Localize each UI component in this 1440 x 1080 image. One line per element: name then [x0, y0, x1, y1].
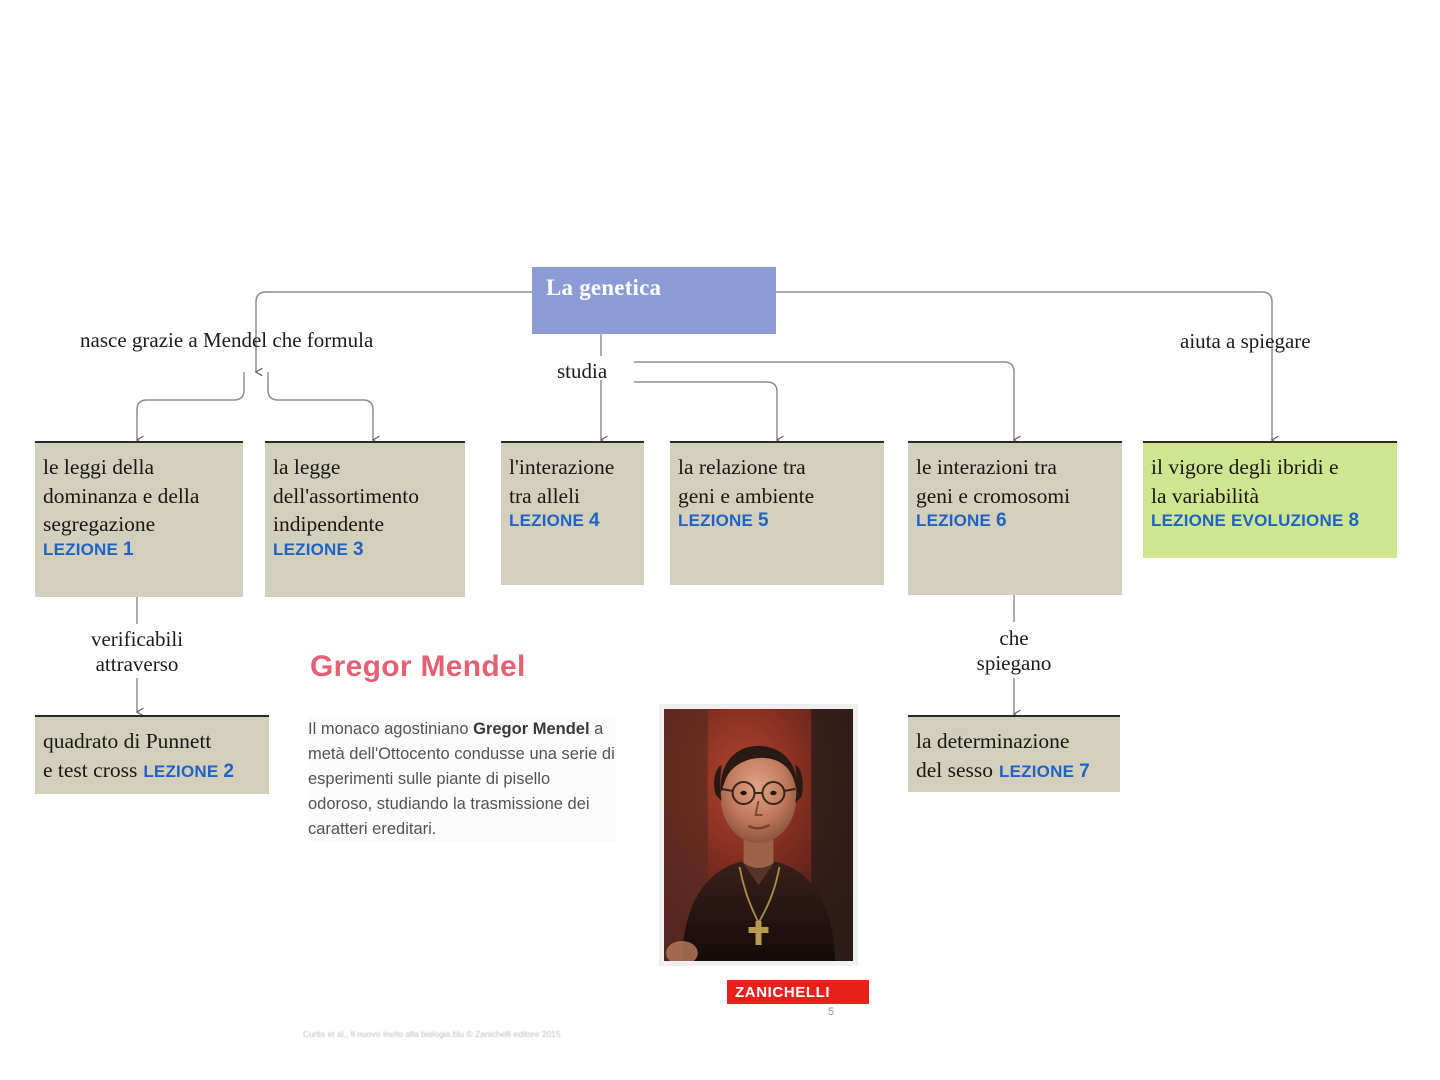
node-line: segregazione: [43, 510, 235, 539]
mendel-body-prefix: Il monaco agostiniano: [308, 720, 473, 738]
lesson-badge: LEZIONE 3: [273, 539, 457, 561]
node-determinazione-sesso[interactable]: la determinazione del sessoLEZIONE 7: [908, 715, 1120, 792]
diagram-title-node: La genetica: [532, 267, 776, 334]
lesson-label: LEZIONE: [43, 540, 118, 559]
node-line: dell'assortimento: [273, 482, 457, 511]
node-line: indipendente: [273, 510, 457, 539]
lesson-number: 4: [589, 510, 600, 531]
lesson-label: LEZIONE: [916, 511, 991, 530]
node-quadrato-punnett[interactable]: quadrato di Punnett e test crossLEZIONE …: [35, 715, 269, 794]
node-line: la variabilità: [1151, 482, 1389, 511]
footer-credit: Curtis et al., Il nuovo Invito alla biol…: [303, 1029, 573, 1039]
lesson-number: 1: [123, 539, 134, 560]
lesson-number: 3: [353, 539, 364, 560]
mendel-portrait-image: [664, 709, 853, 961]
node-line: le leggi della: [43, 453, 235, 482]
node-line-text: e test cross: [43, 758, 137, 782]
node-geni-ambiente[interactable]: la relazione tra geni e ambiente LEZIONE…: [670, 441, 884, 585]
lesson-badge: LEZIONE 2: [143, 762, 234, 781]
edge-label-verificabili-line2: attraverso: [37, 652, 237, 677]
node-line: le interazioni tra: [916, 453, 1114, 482]
publisher-logo: ZANICHELLI: [727, 980, 869, 1004]
edge-label-verificabili-line1: verificabili: [37, 627, 237, 652]
lesson-number: 2: [223, 761, 234, 782]
node-line-with-lesson: del sessoLEZIONE 7: [916, 756, 1112, 785]
node-line: dominanza e della: [43, 482, 235, 511]
mendel-inset-heading: Gregor Mendel: [310, 650, 526, 684]
lesson-label: LEZIONE EVOLUZIONE: [1151, 511, 1344, 530]
lesson-badge: LEZIONE 6: [916, 510, 1114, 532]
node-line: geni e ambiente: [678, 482, 876, 511]
mendel-body-bold: Gregor Mendel: [473, 720, 589, 738]
lesson-label: LEZIONE: [273, 540, 348, 559]
node-geni-cromosomi[interactable]: le interazioni tra geni e cromosomi LEZI…: [908, 441, 1122, 595]
lesson-label: LEZIONE: [143, 762, 218, 781]
edge-label-che-spiegano-line2: spiegano: [914, 651, 1114, 676]
node-line-text: del sesso: [916, 758, 993, 782]
lesson-label: LEZIONE: [509, 511, 584, 530]
slide-canvas: La genetica nasce grazie a Mendel che fo…: [0, 0, 1440, 1080]
lesson-badge: LEZIONE EVOLUZIONE 8: [1151, 510, 1389, 532]
lesson-badge: LEZIONE 5: [678, 510, 876, 532]
edge-label-nasce-grazie: nasce grazie a Mendel che formula: [80, 328, 373, 353]
lesson-number: 6: [996, 510, 1007, 531]
mendel-inset-body: Il monaco agostiniano Gregor Mendel a me…: [308, 717, 616, 842]
publisher-logo-text: ZANICHELLI: [727, 984, 830, 1001]
edge-label-aiuta-a-spiegare: aiuta a spiegare: [1180, 329, 1311, 354]
edge-label-che-spiegano: che spiegano: [914, 626, 1114, 676]
lesson-label: LEZIONE: [678, 511, 753, 530]
node-line-with-lesson: e test crossLEZIONE 2: [43, 756, 261, 785]
page-number: 5: [828, 1006, 834, 1018]
lesson-badge: LEZIONE 1: [43, 539, 235, 561]
lesson-badge: LEZIONE 4: [509, 510, 636, 532]
node-line: il vigore degli ibridi e: [1151, 453, 1389, 482]
node-line: quadrato di Punnett: [43, 727, 261, 756]
node-line: tra alleli: [509, 482, 636, 511]
page-title: La genetica: [546, 275, 661, 301]
node-line: la relazione tra: [678, 453, 876, 482]
node-assortimento-indipendente[interactable]: la legge dell'assortimento indipendente …: [265, 441, 465, 597]
node-line: la legge: [273, 453, 457, 482]
lesson-badge: LEZIONE 7: [999, 762, 1090, 781]
lesson-number: 7: [1079, 761, 1090, 782]
lesson-number: 8: [1348, 510, 1359, 531]
node-leggi-dominanza[interactable]: le leggi della dominanza e della segrega…: [35, 441, 243, 597]
lesson-number: 5: [758, 510, 769, 531]
mendel-portrait-frame: [659, 704, 858, 966]
node-line: la determinazione: [916, 727, 1112, 756]
node-line: geni e cromosomi: [916, 482, 1114, 511]
node-line: l'interazione: [509, 453, 636, 482]
edge-label-che-spiegano-line1: che: [914, 626, 1114, 651]
node-vigore-ibridi[interactable]: il vigore degli ibridi e la variabilità …: [1143, 441, 1397, 558]
edge-label-studia: studia: [557, 359, 607, 384]
node-interazione-alleli[interactable]: l'interazione tra alleli LEZIONE 4: [501, 441, 644, 585]
lesson-label: LEZIONE: [999, 762, 1074, 781]
edge-label-verificabili-attraverso: verificabili attraverso: [37, 627, 237, 677]
